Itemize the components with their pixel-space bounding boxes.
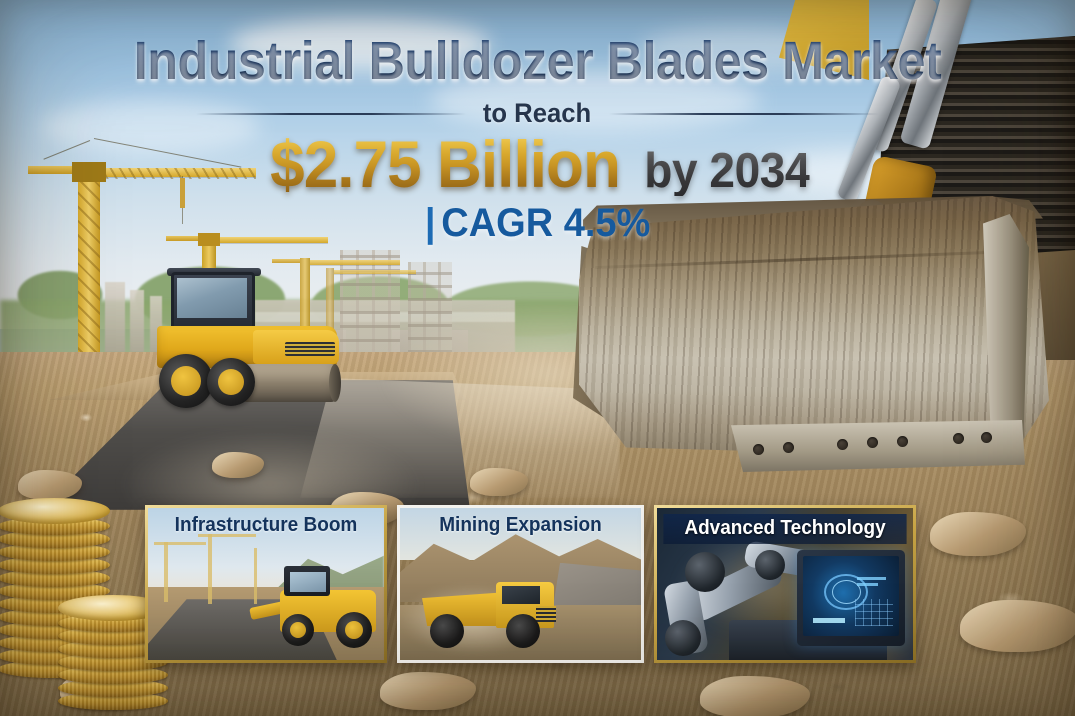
roller-wheel (159, 354, 213, 408)
loader-wheel (282, 614, 314, 646)
control-monitor-icon (797, 550, 905, 646)
market-value-row: $2.75 Billionby 2034 (0, 131, 1075, 197)
rock (700, 676, 810, 716)
cagr-label: CAGR 4.5% (441, 201, 650, 245)
card-crane-icon (208, 534, 212, 604)
dump-truck-icon (422, 570, 572, 648)
loader-wheel (336, 612, 372, 648)
divider-right (609, 113, 879, 115)
card-mining-expansion[interactable]: Mining Expansion (397, 505, 644, 663)
monitor-screen (803, 556, 899, 636)
connector-text: to Reach (483, 98, 591, 129)
hud-grid (855, 599, 893, 626)
card-crane-icon (164, 542, 168, 602)
page-title: Industrial Bulldozer Blades Market (38, 34, 1038, 89)
roller-grille (285, 342, 335, 356)
blade-bolt (753, 444, 764, 455)
hud-bar (813, 618, 846, 623)
blade-bolt (783, 442, 794, 453)
wheel-loader-icon (252, 566, 376, 650)
card-label-mining: Mining Expansion (406, 514, 635, 537)
robot-joint (755, 550, 785, 580)
headline-block: Industrial Bulldozer Blades Market to Re… (0, 0, 1075, 246)
forecast-year: by 2034 (645, 147, 811, 196)
robot-joint (685, 552, 725, 592)
to-reach-row: to Reach (0, 98, 1075, 129)
roller-drum (241, 364, 337, 402)
card-advanced-technology[interactable]: Advanced Technology (654, 505, 916, 663)
card-label-technology: Advanced Technology (663, 514, 906, 544)
blade-bolt (981, 432, 992, 443)
robot-joint (665, 620, 701, 656)
truck-wheel (506, 614, 540, 648)
hud-bar (857, 583, 878, 586)
loader-windshield (290, 572, 326, 592)
truck-window (502, 586, 540, 604)
roller-windshield (177, 278, 247, 318)
roller-wheel (207, 358, 255, 406)
card-crane-jib (154, 542, 206, 545)
blade-bolt (867, 437, 878, 448)
infographic-poster: Industrial Bulldozer Blades Market to Re… (0, 0, 1075, 716)
blade-cutting-edge (725, 420, 1025, 472)
truck-wheel (430, 614, 464, 648)
blade-bolt (897, 436, 908, 447)
cagr-value: |CAGR 4.5% (425, 201, 650, 246)
road-roller-machine (145, 268, 355, 408)
hud-bar (857, 577, 886, 580)
divider-left (196, 113, 466, 115)
blade-bolt (837, 439, 848, 450)
driver-cards: Infrastructure Boom Mining Expansio (0, 505, 1075, 680)
blade-bolt (953, 433, 964, 444)
card-label-infrastructure: Infrastructure Boom (154, 514, 378, 537)
cagr-row: |CAGR 4.5% (0, 201, 1075, 246)
truck-grille (536, 606, 556, 622)
card-infrastructure-boom[interactable]: Infrastructure Boom (145, 505, 387, 663)
cagr-divider: | (425, 201, 436, 245)
market-value: $2.75 Billion (270, 131, 620, 197)
